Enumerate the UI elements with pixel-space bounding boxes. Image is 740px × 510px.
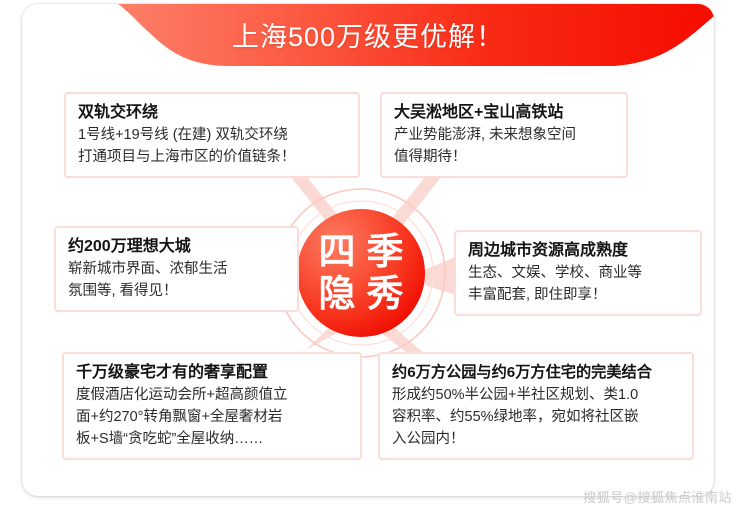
info-box-title: 周边城市资源高成熟度 — [468, 239, 690, 262]
info-box-rail-transit: 双轨交环绕 1号线+19号线 (在建) 双轨交环绕 打通项目与上海市区的价值链条… — [64, 92, 360, 178]
info-box-wusong-district: 大吴淞地区+宝山高铁站 产业势能澎湃, 未来想象空间 值得期待！ — [380, 92, 628, 178]
center-char-4: 秀 — [361, 273, 409, 315]
info-box-park-residence: 约6万方公园与约6万方住宅的完美结合 形成约50%半公园+半社区规划、类1.0 … — [378, 352, 694, 460]
info-box-line: 产业势能澎湃, 未来想象空间 — [394, 124, 616, 146]
infographic-page: 上海500万级更优解！ — [0, 0, 740, 510]
info-box-line: 氛围等, 看得见！ — [68, 280, 287, 302]
center-char-2: 季 — [361, 231, 409, 273]
info-box-line: 形成约50%半公园+半社区规划、类1.0 — [392, 384, 682, 406]
watermark: 搜狐号@搜狐焦点淮南站 — [583, 487, 732, 506]
info-box-title: 大吴淞地区+宝山高铁站 — [394, 101, 616, 124]
banner-shape-icon — [22, 4, 714, 82]
info-box-body: 度假酒店化运动会所+超高颜值立 面+约270°转角飘窗+全屋奢材岩 板+S墙“贪… — [76, 384, 350, 450]
info-box-luxury-config: 千万级豪宅才有的奢享配置 度假酒店化运动会所+超高颜值立 面+约270°转角飘窗… — [62, 352, 362, 460]
info-box-body: 崭新城市界面、浓郁生活 氛围等, 看得见！ — [68, 258, 287, 302]
info-box-line: 入公园内！ — [392, 428, 682, 450]
info-box-line: 容积率、约55%绿地率，宛如将社区嵌 — [392, 406, 682, 428]
info-box-line: 丰富配套, 即住即享！ — [468, 284, 690, 306]
info-box-line: 打通项目与上海市区的价值链条！ — [78, 146, 348, 168]
info-box-line: 度假酒店化运动会所+超高颜值立 — [76, 384, 350, 406]
center-char-3: 隐 — [313, 273, 361, 315]
info-box-line: 生态、文娱、学校、商业等 — [468, 262, 690, 284]
info-box-title: 双轨交环绕 — [78, 101, 348, 124]
info-box-body: 生态、文娱、学校、商业等 丰富配套, 即住即享！ — [468, 262, 690, 306]
header-banner: 上海500万级更优解！ — [22, 4, 714, 82]
page-title: 上海500万级更优解！ — [22, 20, 714, 54]
content-card: 上海500万级更优解！ — [22, 4, 714, 496]
info-box-body: 产业势能澎湃, 未来想象空间 值得期待！ — [394, 124, 616, 168]
center-badge-label: 四 季 隐 秀 — [313, 231, 409, 315]
center-badge: 四 季 隐 秀 — [297, 209, 425, 337]
info-box-line: 1号线+19号线 (在建) 双轨交环绕 — [78, 124, 348, 146]
info-box-line: 面+约270°转角飘窗+全屋奢材岩 — [76, 406, 350, 428]
info-box-title: 约200万理想大城 — [68, 235, 287, 258]
info-box-city-resources: 周边城市资源高成熟度 生态、文娱、学校、商业等 丰富配套, 即住即享！ — [454, 230, 702, 316]
info-box-title: 千万级豪宅才有的奢享配置 — [76, 361, 350, 384]
info-box-body: 1号线+19号线 (在建) 双轨交环绕 打通项目与上海市区的价值链条！ — [78, 124, 348, 168]
info-box-ideal-city: 约200万理想大城 崭新城市界面、浓郁生活 氛围等, 看得见！ — [54, 226, 299, 312]
info-box-line: 崭新城市界面、浓郁生活 — [68, 258, 287, 280]
info-box-line: 值得期待！ — [394, 146, 616, 168]
info-box-body: 形成约50%半公园+半社区规划、类1.0 容积率、约55%绿地率，宛如将社区嵌 … — [392, 384, 682, 450]
info-box-title: 约6万方公园与约6万方住宅的完美结合 — [392, 361, 682, 384]
info-box-line: 板+S墙“贪吃蛇”全屋收纳…… — [76, 428, 350, 450]
center-char-1: 四 — [313, 231, 361, 273]
